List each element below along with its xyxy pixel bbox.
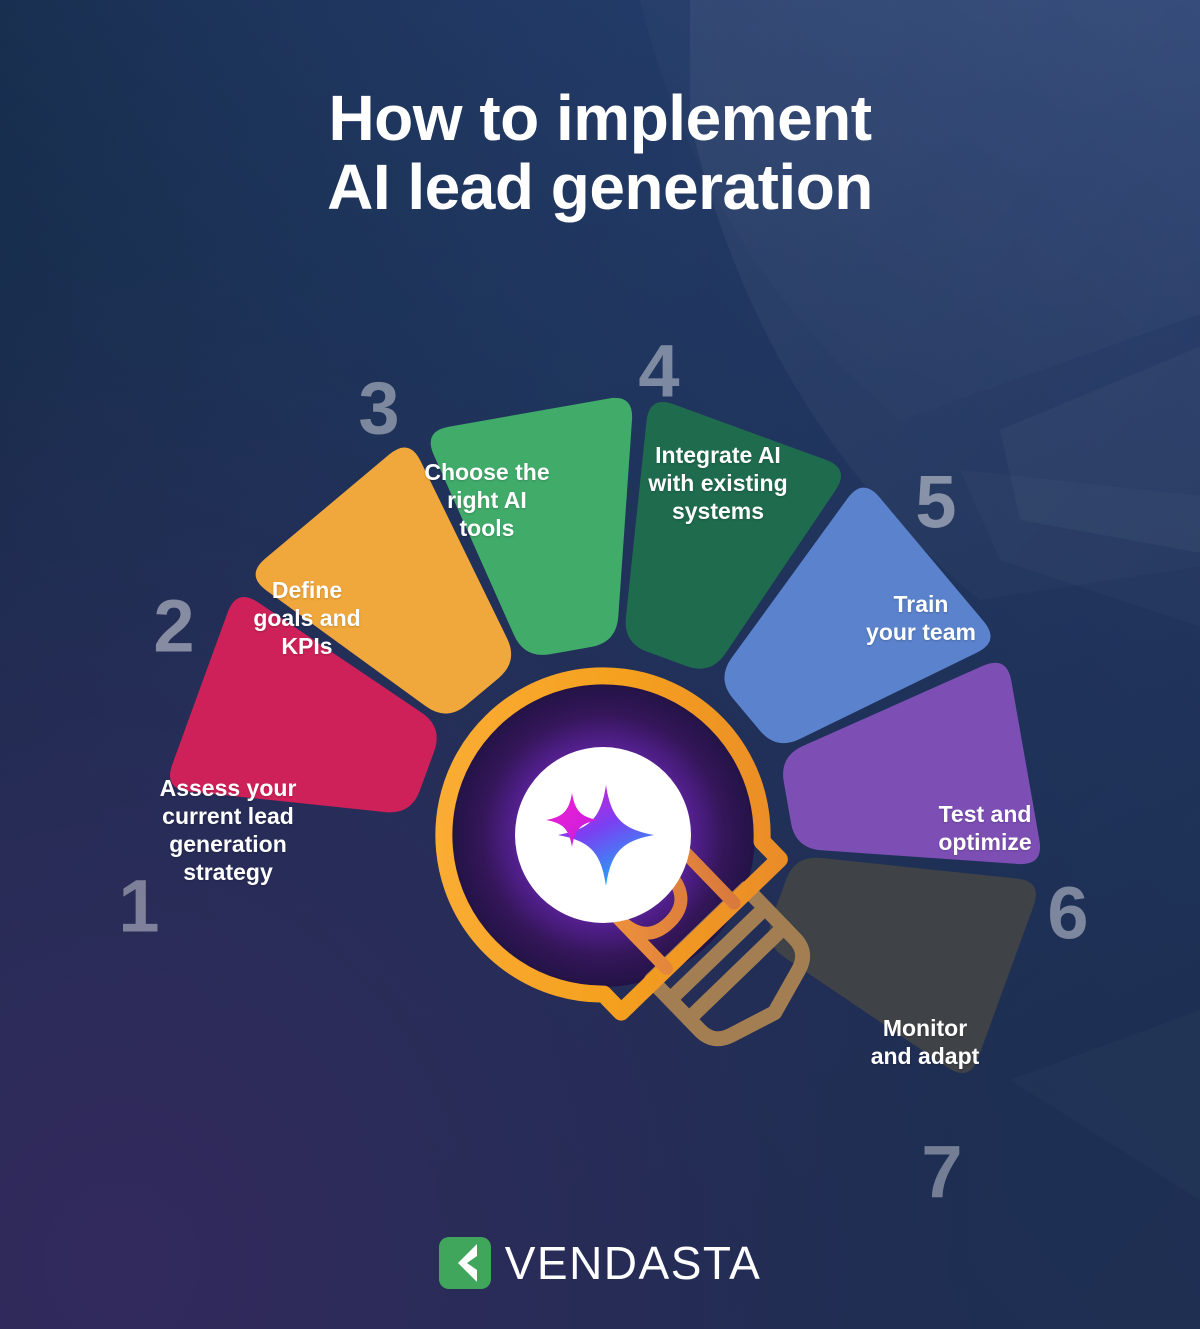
petal-label-5: Train your team <box>829 590 1014 646</box>
petal-label-7: Monitor and adapt <box>828 1014 1023 1070</box>
petal-number-3: 3 <box>358 367 399 450</box>
petal-number-7: 7 <box>921 1131 962 1214</box>
petal-label-1: Assess your current lead generation stra… <box>123 774 333 886</box>
petal-number-2: 2 <box>153 585 194 668</box>
step-wheel: 1234567 <box>0 0 1200 1329</box>
brand-name: VENDASTA <box>505 1236 762 1290</box>
petal-number-5: 5 <box>915 461 956 544</box>
petal-label-2: Define goals and KPIs <box>215 576 400 660</box>
infographic-canvas: 1234567 <box>0 0 1200 1329</box>
petal-label-3: Choose the right AI tools <box>390 458 585 542</box>
petal-number-6: 6 <box>1047 872 1088 955</box>
brand-logo[interactable]: VENDASTA <box>0 1236 1200 1290</box>
vendasta-chevron-mark <box>439 1237 491 1289</box>
petal-number-4: 4 <box>638 330 679 413</box>
petal-label-4: Integrate AI with existing systems <box>616 441 821 525</box>
petal-label-6: Test and optimize <box>890 800 1080 856</box>
